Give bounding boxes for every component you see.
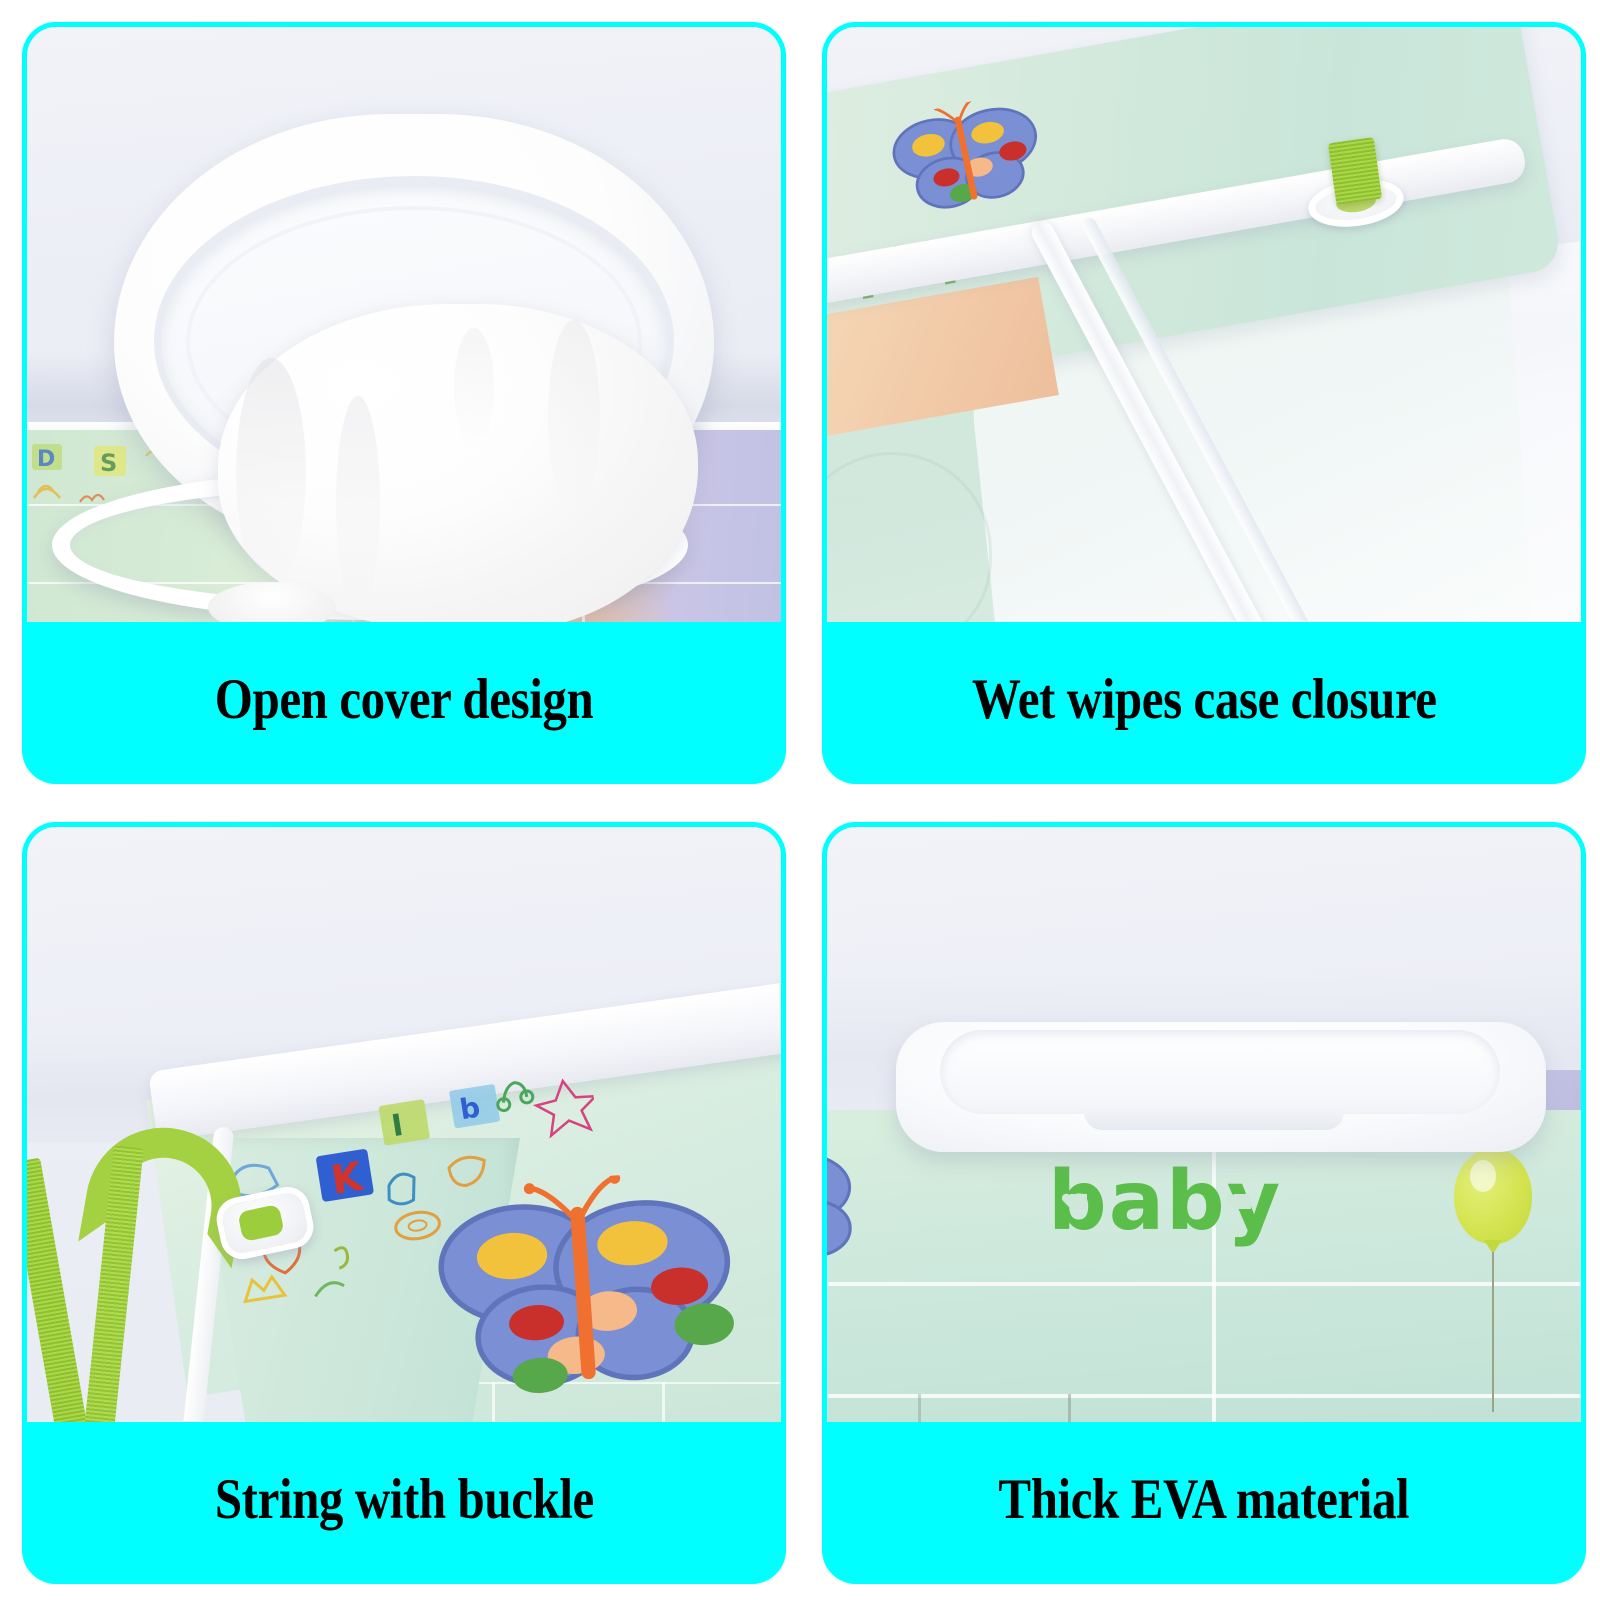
caption-bar: String with buckle xyxy=(22,1422,786,1584)
feature-card[interactable]: baby Thick EVA material xyxy=(822,822,1586,1584)
butterfly-graphic-partial xyxy=(822,1144,932,1268)
caption-bar: Open cover design xyxy=(22,622,786,784)
lid-inner-ring xyxy=(940,1030,1500,1114)
caption-text: Wet wipes case closure xyxy=(972,671,1437,736)
panel-wet-wipes-case-closure: baby Wet wipes case closure xyxy=(800,0,1600,800)
strap-tab xyxy=(1328,137,1382,205)
balloon-graphic xyxy=(1454,1148,1532,1244)
butterfly-graphic xyxy=(410,1167,755,1419)
balloon-string xyxy=(1492,1252,1494,1412)
feature-card[interactable]: I b K xyxy=(22,822,786,1584)
lid-tab-notch xyxy=(1084,1104,1344,1130)
panel-open-cover-design: D S xyxy=(0,0,800,800)
panel-string-with-buckle: I b K xyxy=(0,800,800,1600)
caption-bar: Thick EVA material xyxy=(822,1422,1586,1584)
wipe-tissue xyxy=(218,304,698,622)
product-photo-thick-eva: baby xyxy=(822,822,1586,1422)
caption-text: Thick EVA material xyxy=(999,1471,1410,1536)
pouch-gridline xyxy=(822,1282,1586,1286)
heart-cutout-icon xyxy=(1070,1194,1087,1209)
pouch-gridline xyxy=(918,1394,921,1422)
caption-bar: Wet wipes case closure xyxy=(822,622,1586,784)
balloon-highlight xyxy=(1470,1160,1496,1192)
product-photo-open-cover: D S xyxy=(22,22,786,622)
caption-text: Open cover design xyxy=(215,671,594,736)
product-photo-string-buckle: I b K xyxy=(22,822,786,1422)
feature-card[interactable]: baby Wet wipes case closure xyxy=(822,22,1586,784)
heart-cutout-icon xyxy=(1234,1194,1251,1209)
svg-text:S: S xyxy=(100,449,117,477)
caption-text: String with buckle xyxy=(214,1471,593,1536)
pouch-gridline xyxy=(1068,1394,1071,1422)
feature-card[interactable]: D S xyxy=(22,22,786,784)
pouch-gridline xyxy=(822,1394,1586,1398)
svg-text:D: D xyxy=(37,447,55,472)
feature-grid: D S xyxy=(0,0,1600,1600)
panel-thick-eva-material: baby Thick EVA material xyxy=(800,800,1600,1600)
product-photo-case-closure: baby xyxy=(822,22,1586,622)
